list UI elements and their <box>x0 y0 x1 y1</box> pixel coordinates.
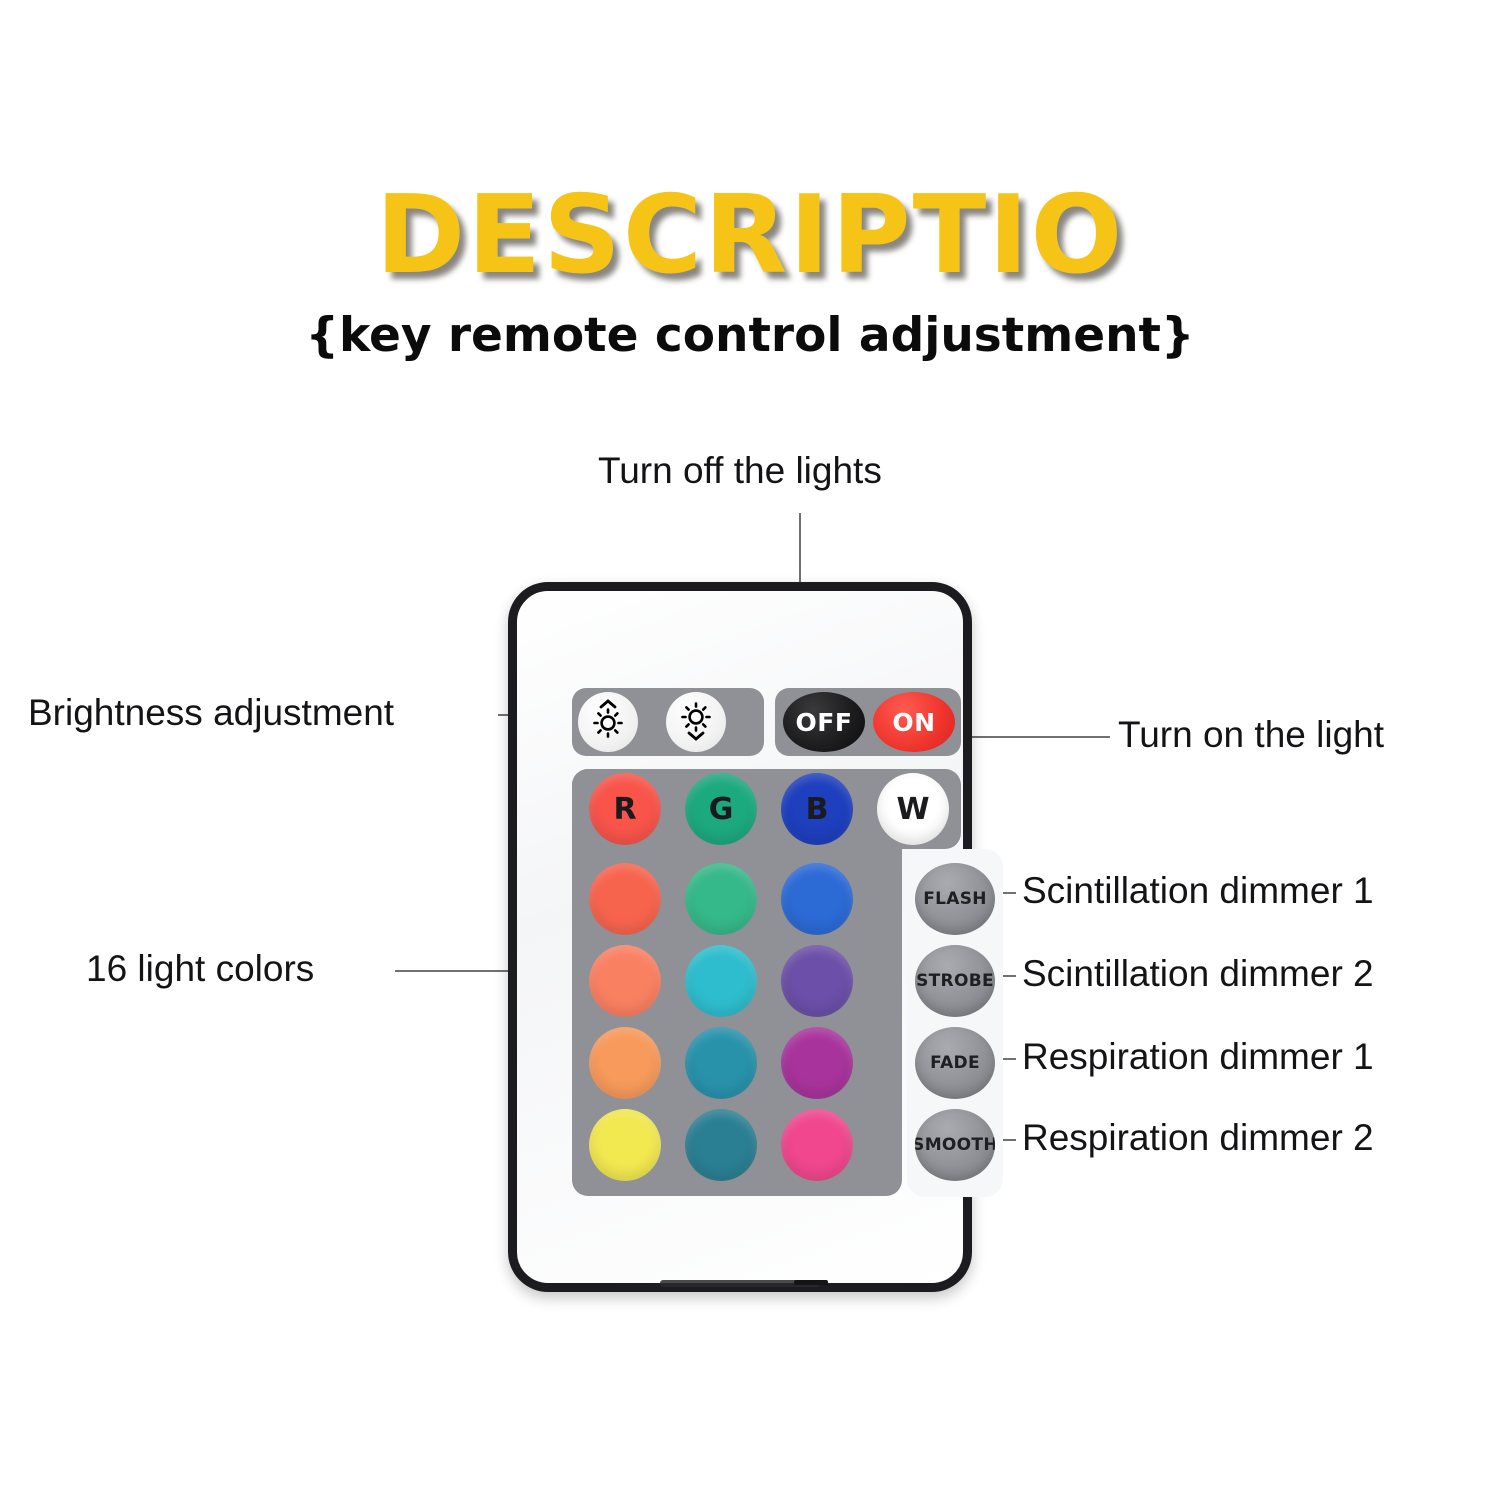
color-swatch[interactable] <box>685 1109 757 1181</box>
color-swatch[interactable] <box>781 1109 853 1181</box>
color-swatch[interactable] <box>589 945 661 1017</box>
callout-label-respiration-dimmer-1: Respiration dimmer 1 <box>1022 1038 1374 1075</box>
brightness-up-button[interactable] <box>578 692 638 752</box>
color-swatch[interactable] <box>781 945 853 1017</box>
strobe-button[interactable]: STROBE <box>915 945 995 1017</box>
blue-button[interactable]: B <box>781 773 853 845</box>
on-button[interactable]: ON <box>873 692 955 752</box>
green-button[interactable]: G <box>685 773 757 845</box>
white-button[interactable]: W <box>877 773 949 845</box>
brightness-down-icon <box>674 698 718 747</box>
callout-label-turn-off-the-lights: Turn off the lights <box>598 452 882 489</box>
brightness-panel <box>572 688 764 756</box>
color-swatch[interactable] <box>781 1027 853 1099</box>
infographic-canvas: DESCRIPTIO {key remote control adjustmen… <box>0 0 1500 1500</box>
color-swatch[interactable] <box>589 863 661 935</box>
brightness-up-icon <box>586 698 630 747</box>
page-title: DESCRIPTIO <box>0 182 1500 290</box>
flash-button[interactable]: FLASH <box>915 863 995 935</box>
callout-label-scintillation-dimmer-1: Scintillation dimmer 1 <box>1022 872 1374 909</box>
color-swatch[interactable] <box>781 863 853 935</box>
color-swatch[interactable] <box>685 1027 757 1099</box>
page-subtitle: {key remote control adjustment} <box>0 312 1500 359</box>
brightness-down-button[interactable] <box>666 692 726 752</box>
callout-label-turn-on-the-light: Turn on the light <box>1118 716 1384 753</box>
callout-label-sixteen-light-colors: 16 light colors <box>86 950 314 987</box>
off-button[interactable]: OFF <box>783 692 865 752</box>
power-panel: OFF ON <box>775 688 961 756</box>
color-swatch[interactable] <box>685 863 757 935</box>
remote-bottom-notch-secondary <box>794 1280 828 1285</box>
remote-control-body: OFF ON R G B W FLASH STROBE FADE SMOOTH <box>508 582 972 1292</box>
callout-label-brightness-adjustment: Brightness adjustment <box>28 694 394 731</box>
callout-label-respiration-dimmer-2: Respiration dimmer 2 <box>1022 1119 1374 1156</box>
red-button[interactable]: R <box>589 773 661 845</box>
smooth-button[interactable]: SMOOTH <box>915 1109 995 1181</box>
fade-button[interactable]: FADE <box>915 1027 995 1099</box>
color-swatch[interactable] <box>589 1027 661 1099</box>
callout-label-scintillation-dimmer-2: Scintillation dimmer 2 <box>1022 955 1374 992</box>
color-swatch[interactable] <box>589 1109 661 1181</box>
color-swatch[interactable] <box>685 945 757 1017</box>
